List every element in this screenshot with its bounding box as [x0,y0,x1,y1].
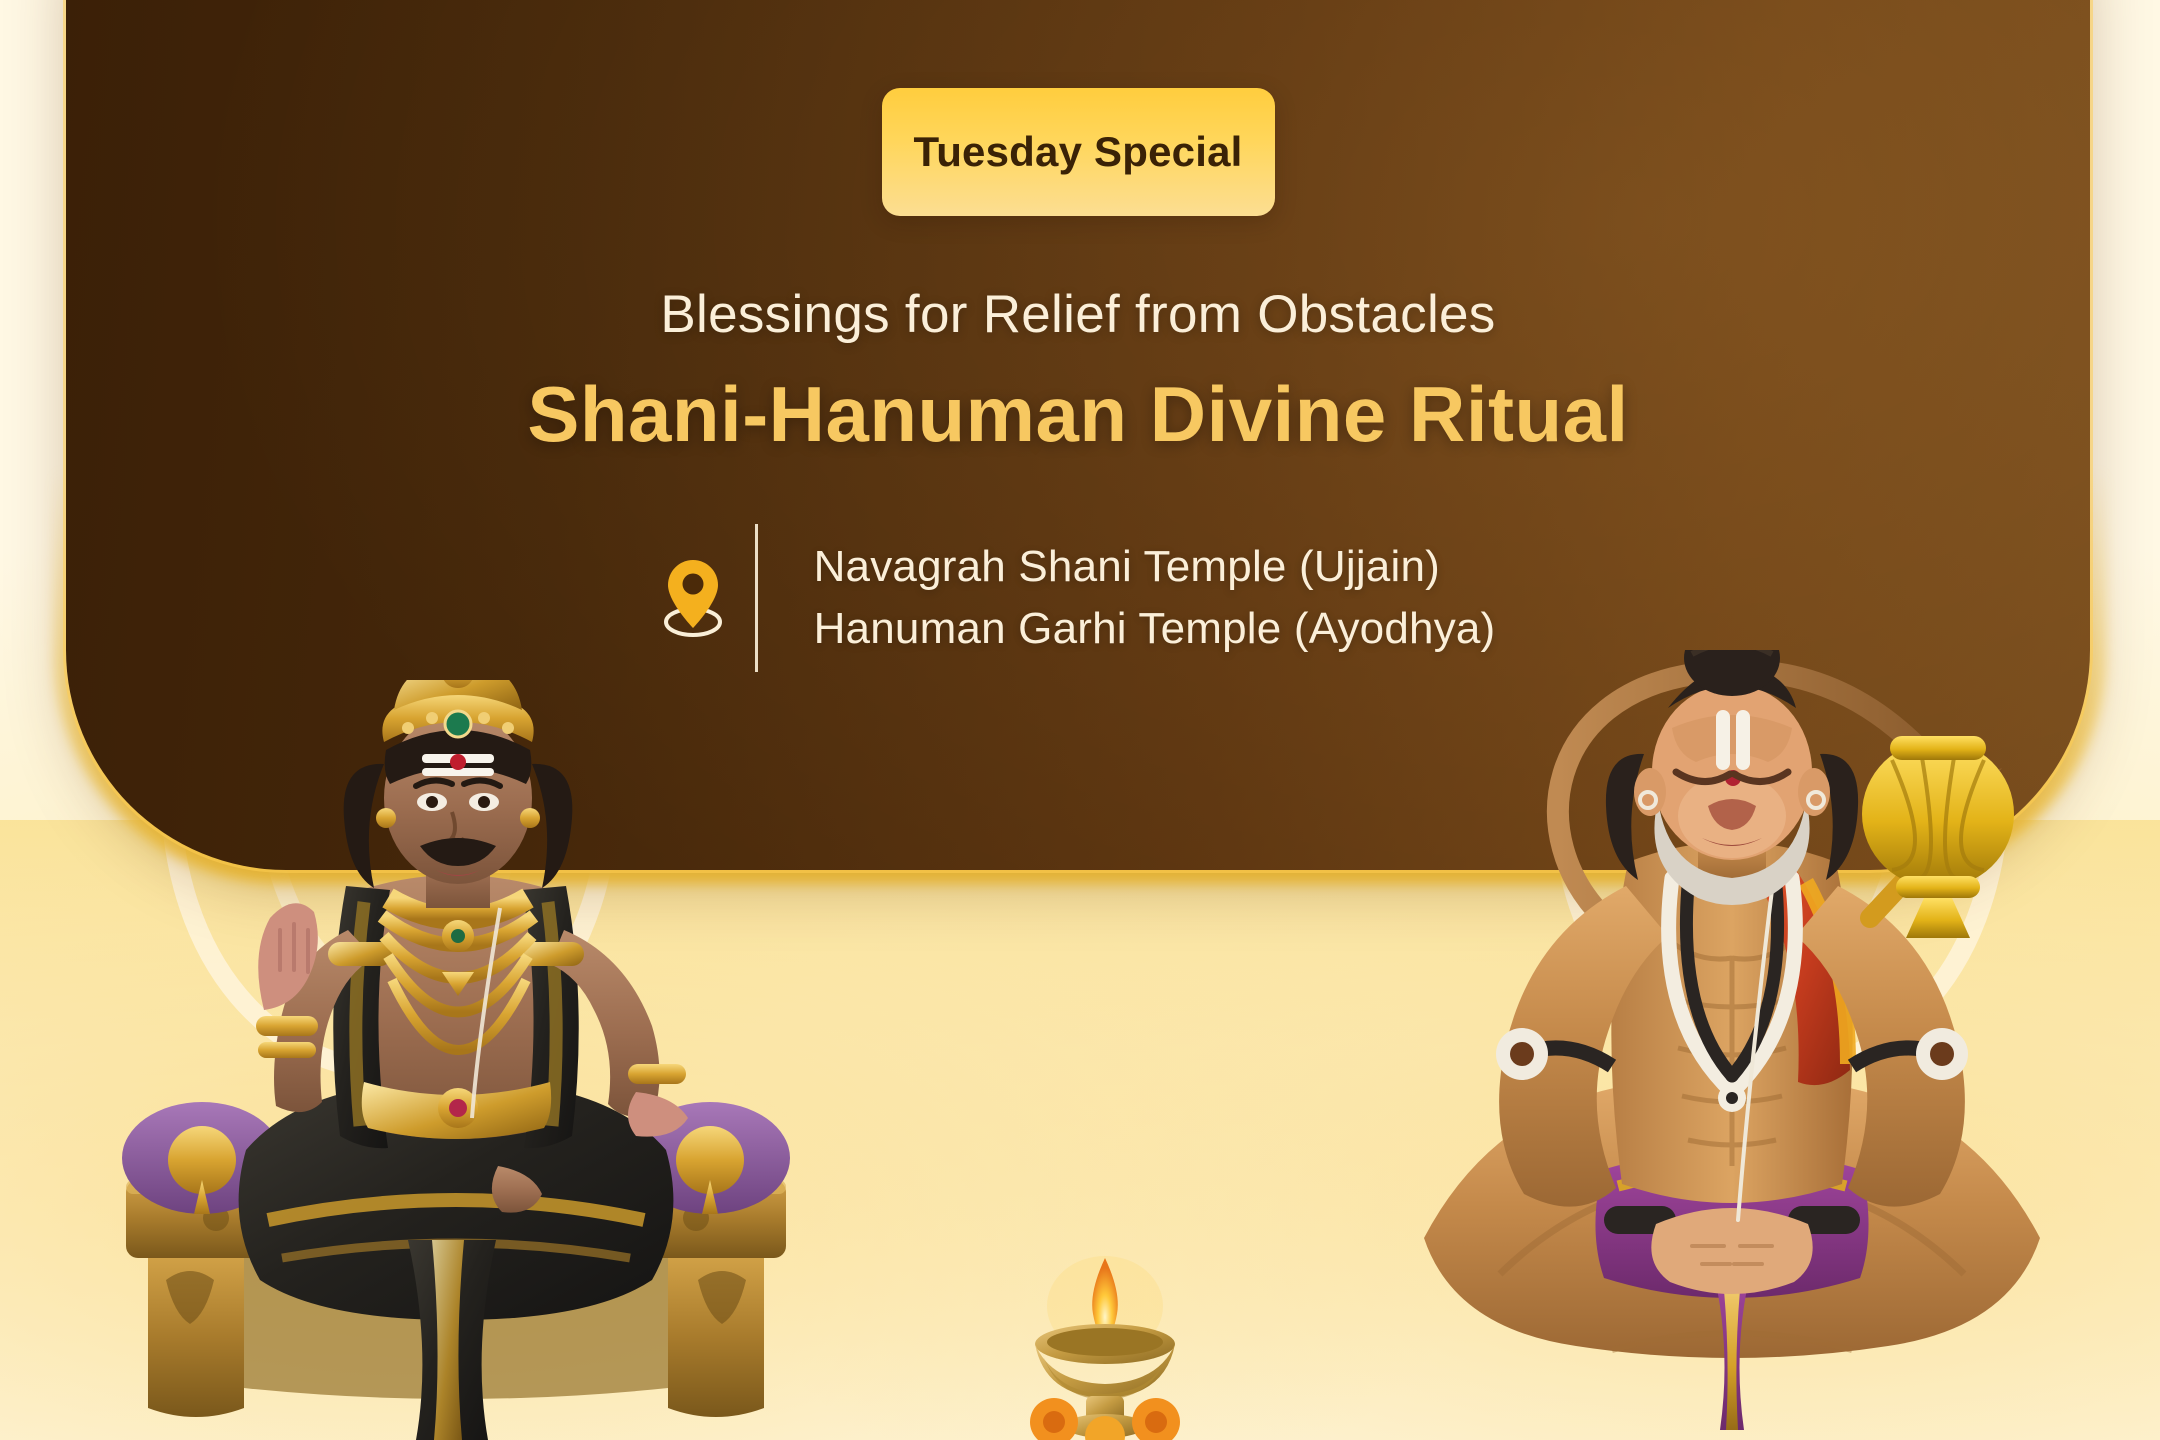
hanuman-deity-illustration [1372,650,2092,1440]
location-pin-icon [661,556,725,640]
shani-deity-illustration [96,680,816,1440]
crown [382,680,533,742]
poster-canvas: Tuesday Special Blessings for Relief fro… [0,0,2160,1440]
gada-mace [1862,736,2014,938]
badge-label: Tuesday Special [913,128,1242,176]
tuesday-special-badge[interactable]: Tuesday Special [882,88,1275,216]
venue-divider [755,524,758,672]
diya-lamp-illustration [1020,1250,1190,1440]
dhyana-mudra-hands [1651,1208,1812,1294]
venue-list: Navagrah Shani Temple (Ujjain) Hanuman G… [788,542,1496,654]
page-title: Shani-Hanuman Divine Ritual [527,369,1628,460]
venue-item: Navagrah Shani Temple (Ujjain) [814,542,1496,592]
poster-subtitle: Blessings for Relief from Obstacles [660,284,1495,345]
venue-item: Hanuman Garhi Temple (Ayodhya) [814,604,1496,654]
venue-block: Navagrah Shani Temple (Ujjain) Hanuman G… [661,524,1496,672]
